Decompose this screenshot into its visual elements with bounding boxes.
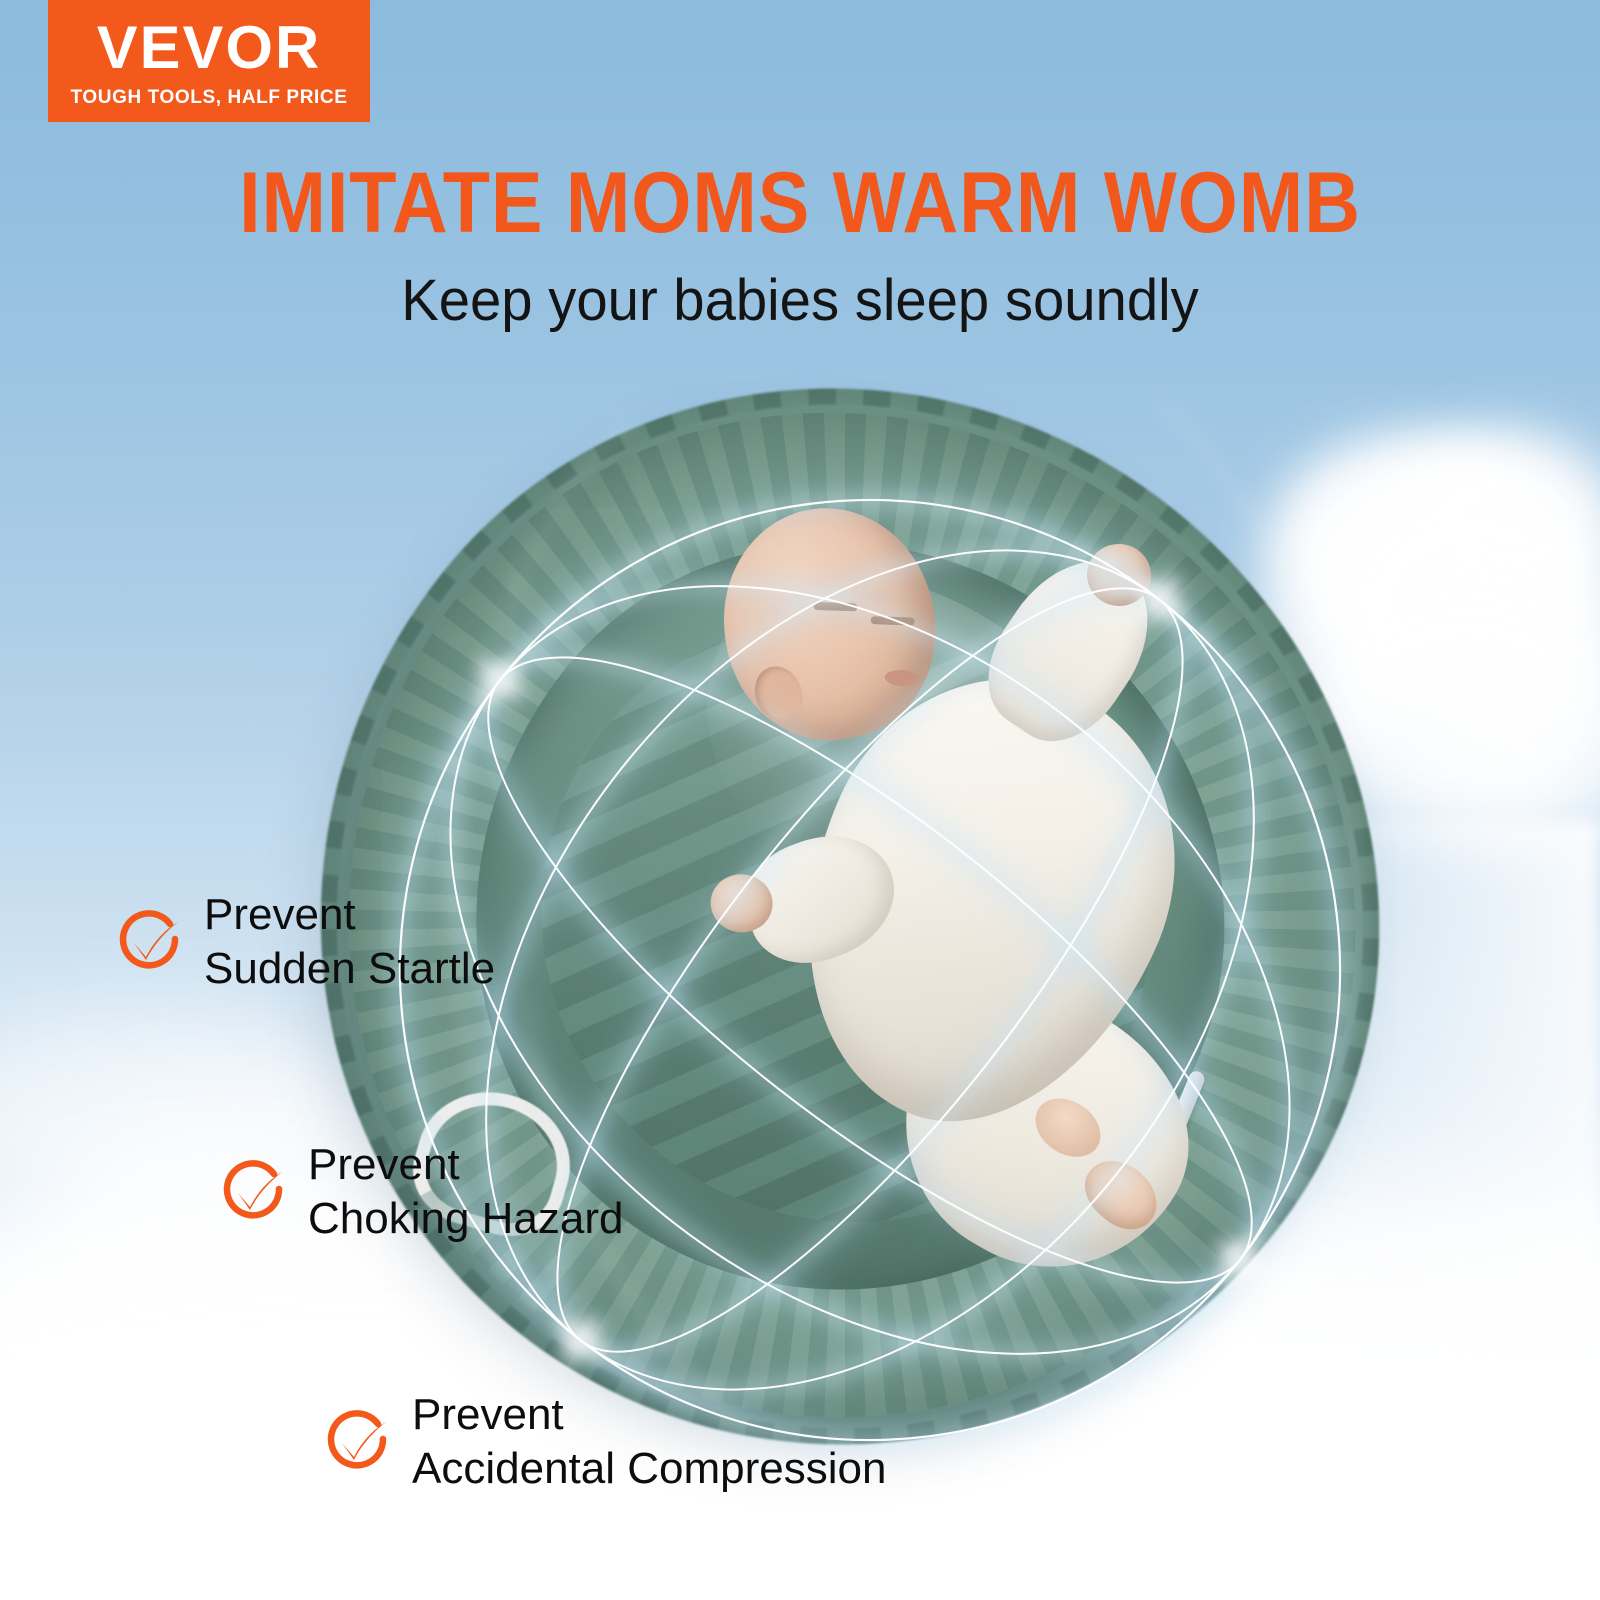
- feature-label: Prevent Accidental Compression: [412, 1388, 886, 1495]
- feature-line-1: Prevent: [204, 890, 356, 939]
- feature-item-choking-hazard: Prevent Choking Hazard: [216, 1138, 624, 1245]
- baby-eye: [871, 616, 915, 626]
- baby-ear: [747, 659, 811, 728]
- vevor-logo: VEVOR TOUGH TOOLS, HALF PRICE: [48, 0, 370, 122]
- logo-tagline: TOUGH TOOLS, HALF PRICE: [71, 87, 348, 109]
- page-subtitle: Keep your babies sleep soundly: [24, 272, 1576, 330]
- sleeping-baby: [622, 494, 1238, 1306]
- check-circle-icon: [112, 905, 186, 979]
- check-circle-icon: [320, 1405, 394, 1479]
- feature-line-2: Choking Hazard: [308, 1194, 624, 1243]
- feature-line-1: Prevent: [412, 1390, 564, 1439]
- feature-line-1: Prevent: [308, 1140, 460, 1189]
- feature-label: Prevent Sudden Startle: [204, 888, 495, 995]
- feature-item-sudden-startle: Prevent Sudden Startle: [112, 888, 495, 995]
- logo-wordmark: VEVOR: [97, 18, 321, 78]
- poster-canvas: VEVOR TOUGH TOOLS, HALF PRICE IMITATE MO…: [0, 0, 1600, 1600]
- page-title: IMITATE MOMS WARM WOMB: [80, 160, 1520, 246]
- feature-label: Prevent Choking Hazard: [308, 1138, 624, 1245]
- baby-mouth: [884, 669, 919, 687]
- baby-eye: [813, 602, 857, 612]
- feature-item-accidental-compression: Prevent Accidental Compression: [320, 1388, 886, 1495]
- feature-line-2: Accidental Compression: [412, 1444, 886, 1493]
- feature-line-2: Sudden Startle: [204, 944, 495, 993]
- check-circle-icon: [216, 1155, 290, 1229]
